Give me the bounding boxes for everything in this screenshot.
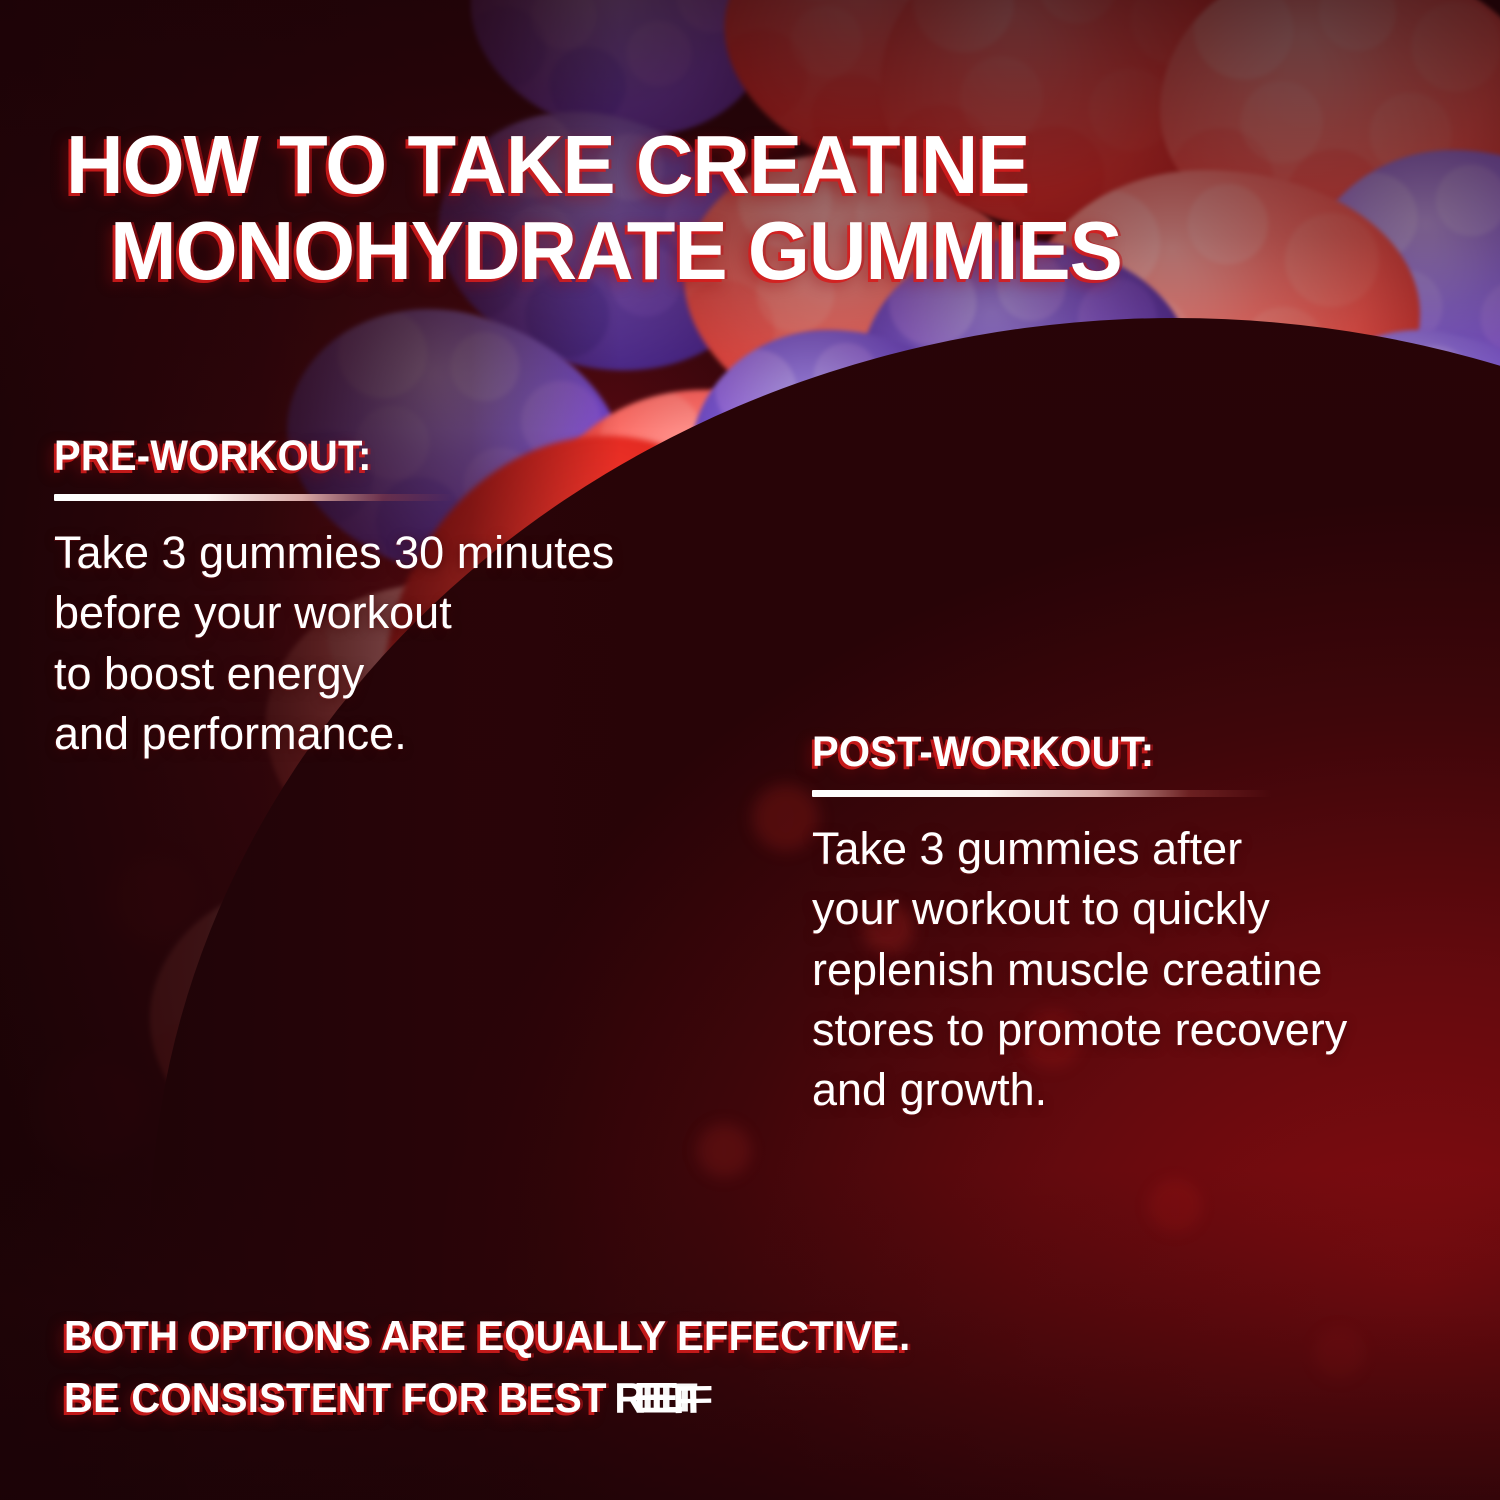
footer-line-1: BOTH OPTIONS ARE EQUALLY EFFECTIVE.: [64, 1312, 1375, 1360]
post-workout-section: POST-WORKOUT: Take 3 gummies after your …: [812, 728, 1472, 1120]
post-workout-body-line: replenish muscle creatine: [812, 940, 1472, 1000]
post-workout-body-line: your workout to quickly: [812, 879, 1472, 939]
pre-workout-body-line: Take 3 gummies 30 minutes: [54, 523, 774, 583]
title-line-1: HOW TO TAKE CREATINE: [66, 118, 1029, 211]
pre-workout-heading: PRE-WORKOUT:: [54, 432, 724, 481]
footer-callout: BOTH OPTIONS ARE EQUALLY EFFECTIVE. BE C…: [64, 1312, 1444, 1422]
title-line-2: MONOHYDRATE GUMMIES: [66, 208, 1343, 294]
page-title: HOW TO TAKE CREATINE MONOHYDRATE GUMMIES: [66, 122, 1343, 295]
post-workout-divider: [812, 790, 1272, 797]
post-workout-body-line: Take 3 gummies after: [812, 819, 1472, 879]
creatine-gummies-infographic: HOW TO TAKE CREATINE MONOHYDRATE GUMMIES…: [0, 0, 1500, 1500]
footer-line-2-prefix: BE CONSISTENT FOR BEST: [64, 1374, 618, 1421]
pre-workout-body: Take 3 gummies 30 minutes before your wo…: [54, 523, 774, 764]
post-workout-body-line: stores to promote recovery: [812, 1000, 1472, 1060]
pre-workout-section: PRE-WORKOUT: Take 3 gummies 30 minutes b…: [54, 432, 774, 764]
post-workout-body-line: and growth.: [812, 1060, 1472, 1120]
glitch-fragment-c: FF: [672, 1378, 702, 1423]
pre-workout-body-line: to boost energy: [54, 644, 774, 704]
pre-workout-divider: [54, 494, 454, 501]
pre-workout-body-line: before your workout: [54, 583, 774, 643]
footer-glitched-word: REEH'LTFF: [614, 1374, 742, 1423]
footer-line-2: BE CONSISTENT FOR BEST REEH'LTFF: [64, 1374, 1375, 1422]
post-workout-heading: POST-WORKOUT:: [812, 728, 1426, 777]
pre-workout-body-line: and performance.: [54, 704, 774, 764]
post-workout-body: Take 3 gummies after your workout to qui…: [812, 819, 1472, 1120]
